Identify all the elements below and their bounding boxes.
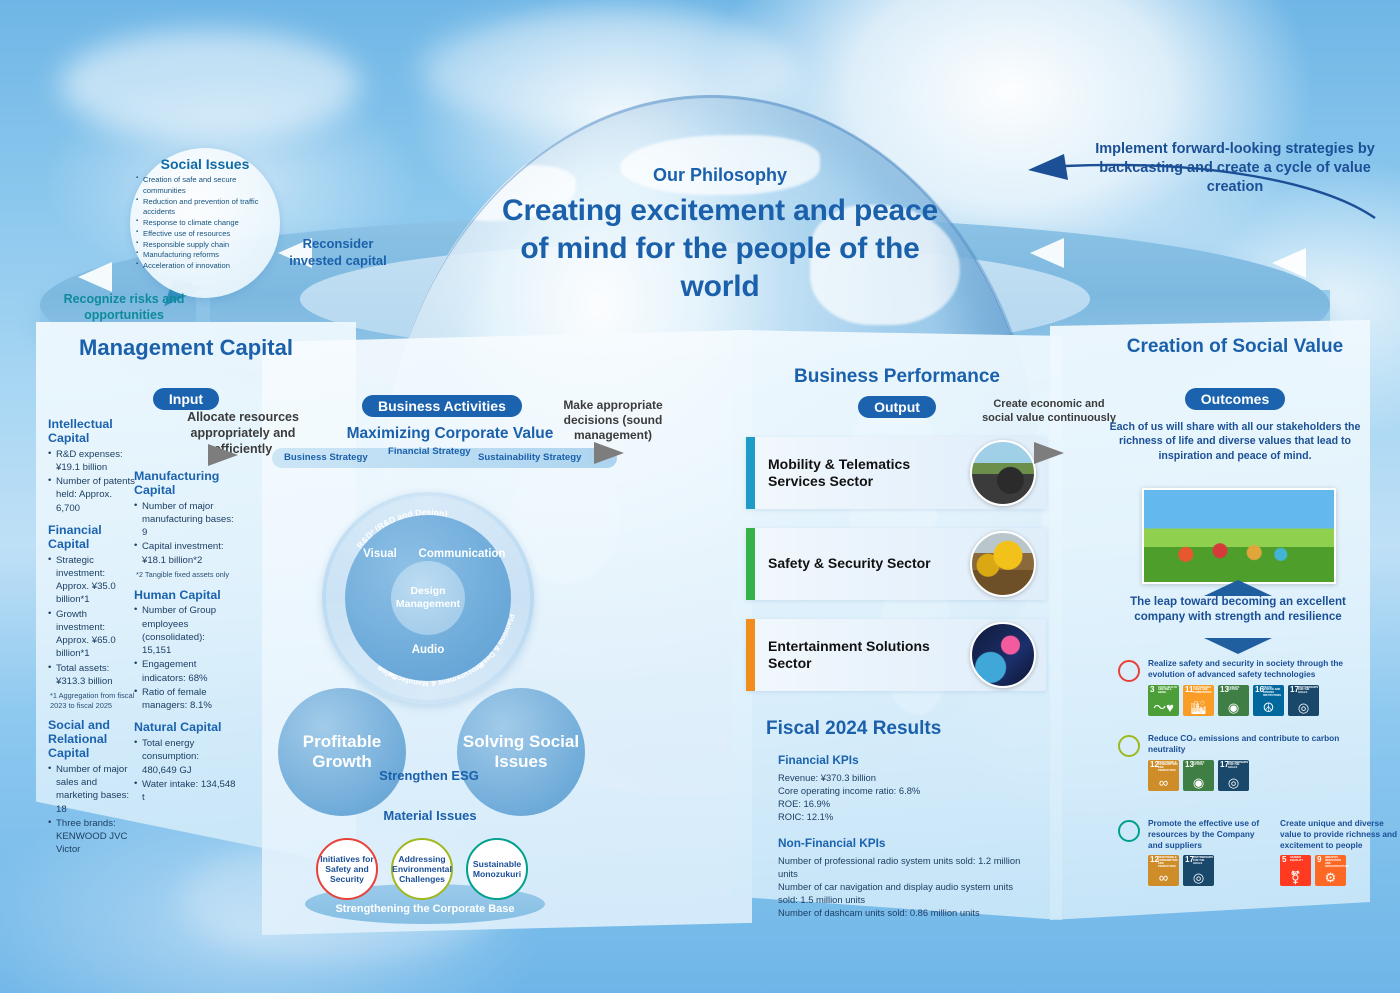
list-item: Number of Group employees (consolidated)… (134, 604, 236, 657)
social-issues-bubble: Social Issues Creation of safe and secur… (130, 148, 280, 298)
list-item: Total assets: ¥313.3 billion (48, 662, 136, 688)
social-issues-list: Creation of safe and secure communities … (130, 175, 280, 272)
capital-heading: Intellectual Capital (48, 418, 136, 446)
sector-name: Entertainment Solutions Sector (755, 638, 970, 672)
capital-list: Number of major sales and marketing base… (48, 763, 136, 857)
sdg-icon-5: 5GENDER EQUALITY⚧ (1280, 855, 1311, 886)
strategy-financial: Financial Strategy (388, 446, 471, 457)
sdg-icon-17: 17PARTNERSHIPS FOR THE GOALS◎ (1288, 685, 1319, 716)
kpi-line: Number of professional radio system unit… (778, 854, 1028, 880)
outcome-safety: Realize safety and security in society t… (1118, 658, 1374, 716)
leap-chevron-up-icon (1204, 580, 1272, 596)
list-item: Ratio of female managers: 8.1% (134, 686, 236, 712)
capital-heading: Financial Capital (48, 524, 136, 552)
sdg-icon-3: 3GOOD HEALTH AND WELL-BEING〜♥ (1148, 685, 1179, 716)
capital-heading: Manufacturing Capital (134, 470, 236, 498)
list-item: Number of patents held: Approx. 6,700 (48, 475, 136, 515)
cloud (60, 30, 360, 140)
create-value-label: Create economic and social value continu… (982, 398, 1116, 426)
kpi-line: Number of car navigation and display aud… (778, 880, 1028, 906)
input-badge: Input (153, 388, 219, 410)
material-issues-title: Material Issues (350, 808, 510, 823)
sector-row-mobility[interactable]: Mobility & Telematics Services Sector (746, 437, 1046, 509)
sdg-row: 5GENDER EQUALITY⚧ 9INDUSTRY, INNOVATION … (1280, 855, 1398, 886)
decisions-arrow-icon (594, 442, 624, 464)
outcome-col-resources: Promote the effective use of resources b… (1148, 818, 1266, 886)
outcome-resources: Promote the effective use of resources b… (1118, 818, 1374, 886)
material-issue-safety: Initiatives for Safety and Security (316, 838, 378, 900)
social-issues-title: Social Issues (161, 156, 250, 172)
list-item: Responsible supply chain (136, 240, 274, 251)
outcome-text: Reduce CO₂ emissions and contribute to c… (1148, 733, 1374, 755)
list-item: Total energy consumption: 480,649 GJ (134, 737, 236, 777)
strategy-business: Business Strategy (284, 452, 368, 463)
strengthen-esg-label: Strengthen ESG (370, 768, 488, 784)
nonfinancial-kpi-heading: Non-Financial KPIs (778, 835, 1028, 852)
capital-column-left: Intellectual Capital R&D expenses: ¥19.1… (48, 418, 136, 858)
sector-name: Mobility & Telematics Services Sector (755, 456, 970, 490)
list-item: Growth investment: Approx. ¥65.0 billion… (48, 608, 136, 661)
material-issue-monozukuri: Sustainable Monozukuri (466, 838, 528, 900)
capital-list: Number of Group employees (consolidated)… (134, 604, 236, 712)
outcome-text: Create unique and diverse value to provi… (1280, 818, 1398, 850)
output-badge: Output (858, 396, 936, 418)
management-capital-title: Management Capital (36, 336, 336, 361)
corporate-base-label: Strengthening the Corporate Base (305, 903, 545, 915)
kpi-line: ROE: 16.9% (778, 797, 1028, 810)
capital-list: R&D expenses: ¥19.1 billion Number of pa… (48, 448, 136, 515)
list-item: Engagement indicators: 68% (134, 658, 236, 684)
domain-communication: Communication (410, 548, 514, 560)
sdg-icon-17: 17PARTNERSHIPS FOR THE GOALS◎ (1218, 760, 1249, 791)
make-decisions-label: Make appropriate decisions (sound manage… (540, 398, 686, 443)
profitable-growth-circle: Profitable Growth (278, 688, 406, 816)
outcome-text: Realize safety and security in society t… (1148, 658, 1374, 680)
capital-heading: Social and Relational Capital (48, 719, 136, 761)
financial-kpi-heading: Financial KPIs (778, 752, 1028, 769)
list-item: Number of major manufacturing bases: 9 (134, 500, 236, 540)
sector-accent-bar (746, 528, 755, 600)
outcome-co2: Reduce CO₂ emissions and contribute to c… (1118, 733, 1374, 791)
outcome-ring-icon (1118, 735, 1140, 757)
list-item: Reduction and prevention of traffic acci… (136, 197, 274, 219)
social-value-title: Creation of Social Value (1110, 336, 1360, 358)
business-activities-badge: Business Activities (362, 395, 522, 417)
capital-footnote: *2 Tangible fixed assets only (134, 570, 236, 580)
capital-heading: Natural Capital (134, 721, 236, 735)
social-value-lead: Each of us will share with all our stake… (1106, 420, 1364, 463)
domain-audio: Audio (378, 644, 478, 656)
solving-social-issues-circle: Solving Social Issues (457, 688, 585, 816)
strategy-sustainability: Sustainability Strategy (478, 452, 581, 463)
sdg-icon-13: 13CLIMATE ACTION◉ (1218, 685, 1249, 716)
list-item: Capital investment: ¥18.1 billion*2 (134, 540, 236, 566)
capital-list: Total energy consumption: 480,649 GJ Wat… (134, 737, 236, 804)
sdg-icon-12: 12RESPONSIBLE CONSUMPTION AND PRODUCTION… (1148, 760, 1179, 791)
mobility-photo-icon (970, 440, 1036, 506)
outcome-columns: Promote the effective use of resources b… (1148, 818, 1374, 886)
capital-list: Strategic investment: Approx. ¥35.0 bill… (48, 554, 136, 688)
philosophy-kicker: Our Philosophy (500, 165, 940, 186)
sector-accent-bar (746, 437, 755, 509)
sdg-row: 12RESPONSIBLE CONSUMPTION AND PRODUCTION… (1148, 855, 1266, 886)
list-item: Response to climate change (136, 218, 274, 229)
outcomes-badge-wrap: Outcomes (1110, 388, 1360, 410)
business-activities-badge-wrap: Business Activities (362, 395, 522, 417)
kpi-line: Core operating income ratio: 6.8% (778, 784, 1028, 797)
sdg-icon-11: 11SUSTAINABLE CITIES AND COMMUNITIES🏙 (1183, 685, 1214, 716)
leap-chevron-down-icon (1204, 638, 1272, 654)
sdg-icon-17: 17PARTNERSHIPS FOR THE GOALS◎ (1183, 855, 1214, 886)
capital-list: Number of major manufacturing bases: 9 C… (134, 500, 236, 567)
reconsider-capital-label: Reconsider invested capital (278, 236, 398, 269)
sdg-icon-16: 16PEACE, JUSTICE AND STRONG INSTITUTIONS… (1253, 685, 1284, 716)
children-photo-icon (1142, 488, 1336, 584)
list-item: Three brands: KENWOOD JVC Victor (48, 817, 136, 857)
outcome-ring-icon (1118, 820, 1140, 842)
list-item: Strategic investment: Approx. ¥35.0 bill… (48, 554, 136, 607)
philosophy-block: Our Philosophy Creating excitement and p… (500, 165, 940, 305)
sdg-icon-12: 12RESPONSIBLE CONSUMPTION AND PRODUCTION… (1148, 855, 1179, 886)
sdg-icon-13: 13CLIMATE ACTION◉ (1183, 760, 1214, 791)
domain-visual: Visual (350, 548, 410, 560)
ring-arrow-right-icon (1272, 248, 1306, 278)
kpi-line: Revenue: ¥370.3 billion (778, 771, 1028, 784)
capital-column-right: Manufacturing Capital Number of major ma… (134, 470, 236, 805)
list-item: Creation of safe and secure communities (136, 175, 274, 197)
kpi-line: Number of dashcam units sold: 0.86 milli… (778, 906, 1028, 919)
capital-heading: Human Capital (134, 589, 236, 603)
create-value-arrow-icon (1034, 442, 1064, 464)
design-management-core: Design Management (391, 561, 465, 635)
outcome-col-value: Create unique and diverse value to provi… (1280, 818, 1398, 886)
backcasting-arc-arrow-icon (1020, 140, 1380, 225)
kpi-block: Financial KPIs Revenue: ¥370.3 billion C… (778, 752, 1028, 919)
sdg-row: 3GOOD HEALTH AND WELL-BEING〜♥ 11SUSTAINA… (1148, 685, 1374, 716)
philosophy-statement: Creating excitement and peace of mind fo… (500, 192, 940, 305)
outcome-text: Promote the effective use of resources b… (1148, 818, 1266, 850)
list-item: Manufacturing reforms (136, 250, 274, 261)
sector-row-safety[interactable]: Safety & Security Sector (746, 528, 1046, 600)
leap-label: The leap toward becoming an excellent co… (1118, 595, 1358, 625)
outcomes-badge: Outcomes (1185, 388, 1285, 410)
ring-arrow-left-icon (78, 262, 112, 292)
outcome-ring-icon (1118, 660, 1140, 682)
safety-photo-icon (970, 531, 1036, 597)
list-item: Effective use of resources (136, 229, 274, 240)
list-item: Acceleration of innovation (136, 261, 274, 272)
fiscal-results-title: Fiscal 2024 Results (766, 718, 1066, 740)
allocate-arrow-icon (208, 444, 238, 466)
sector-row-entertainment[interactable]: Entertainment Solutions Sector (746, 619, 1046, 691)
sdg-icon-9: 9INDUSTRY, INNOVATION AND INFRASTRUCTURE… (1315, 855, 1346, 886)
entertainment-photo-icon (970, 622, 1036, 688)
list-item: Number of major sales and marketing base… (48, 763, 136, 816)
kpi-line: ROIC: 12.1% (778, 810, 1028, 823)
list-item: Water intake: 134,548 t (134, 778, 236, 804)
material-issue-environment: Addressing Environmental Challenges (391, 838, 453, 900)
sdg-row: 12RESPONSIBLE CONSUMPTION AND PRODUCTION… (1148, 760, 1374, 791)
input-badge-wrap: Input (36, 388, 336, 410)
sector-name: Safety & Security Sector (755, 555, 970, 572)
recognize-risks-label: Recognize risks and opportunities (44, 292, 204, 323)
business-performance-title: Business Performance (732, 366, 1062, 388)
sector-accent-bar (746, 619, 755, 691)
capital-footnote: *1 Aggregation from fiscal 2023 to fisca… (48, 691, 136, 710)
list-item: R&D expenses: ¥19.1 billion (48, 448, 136, 474)
